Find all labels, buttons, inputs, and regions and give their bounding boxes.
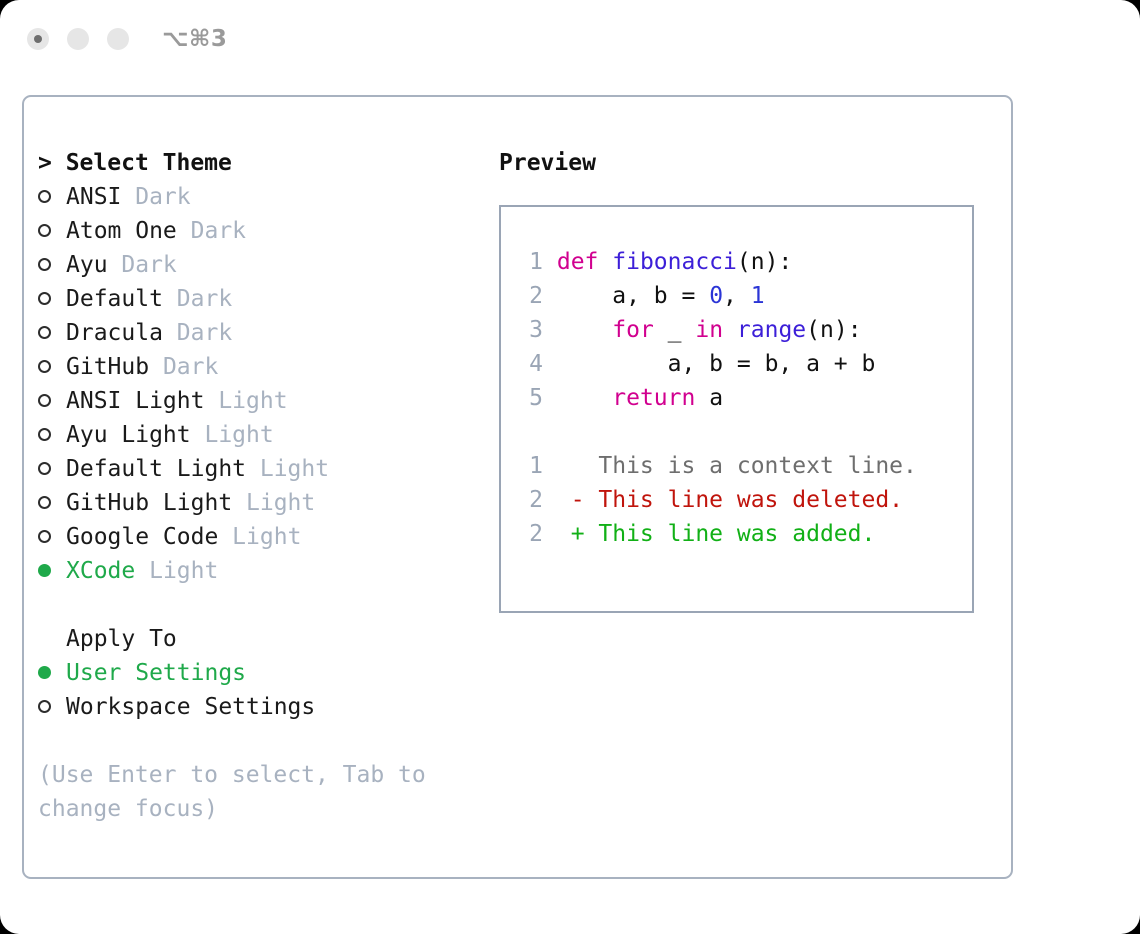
code-token: [557, 317, 612, 343]
radio-unselected-icon[interactable]: [38, 350, 66, 384]
radio-unselected-icon[interactable]: [38, 486, 66, 520]
theme-list-item[interactable]: ANSI Light Light: [38, 384, 468, 418]
theme-list-item[interactable]: Atom One Dark: [38, 214, 468, 248]
theme-name-label: ANSI: [66, 184, 121, 210]
theme-variant-label: Dark: [177, 218, 246, 244]
code-sample-block: 1 def fibonacci(n):2 a, b = 0, 13 for _ …: [519, 245, 972, 415]
code-token: fibonacci: [612, 249, 737, 275]
diff-line-number: 2: [519, 517, 543, 551]
diff-sample-block: 1 This is a context line.2 - This line w…: [519, 449, 972, 551]
code-line-number: 1: [519, 245, 543, 279]
radio-bullet-icon: [38, 258, 51, 271]
theme-name-label: Atom One: [66, 218, 177, 244]
window-dot-inner-icon: [34, 35, 42, 43]
select-theme-header: > Select Theme: [38, 146, 468, 180]
theme-list-item[interactable]: Ayu Dark: [38, 248, 468, 282]
theme-list-item[interactable]: Google Code Light: [38, 520, 468, 554]
radio-unselected-icon[interactable]: [38, 282, 66, 316]
radio-selected-icon[interactable]: [38, 554, 66, 588]
code-line-number: 3: [519, 313, 543, 347]
code-token: a, b = b, a + b: [557, 351, 876, 377]
radio-bullet-icon: [38, 326, 51, 339]
preview-column: Preview 1 def fibonacci(n):2 a, b = 0, 1…: [499, 146, 999, 613]
theme-name-label: Default Light: [66, 456, 246, 482]
diff-marker: -: [543, 487, 598, 513]
code-token: 1: [751, 283, 765, 309]
radio-bullet-icon: [38, 190, 51, 203]
code-token: (n):: [737, 249, 792, 275]
theme-list-item[interactable]: ANSI Dark: [38, 180, 468, 214]
diff-text: This is a context line.: [598, 453, 917, 479]
theme-name-label: GitHub Light: [66, 490, 232, 516]
code-token: a: [695, 385, 723, 411]
radio-unselected-icon[interactable]: [38, 180, 66, 214]
theme-variant-label: Dark: [108, 252, 177, 278]
theme-variant-label: Light: [191, 422, 274, 448]
code-token: for: [612, 317, 654, 343]
diff-line: 2 - This line was deleted.: [519, 483, 972, 517]
radio-bullet-icon: [38, 394, 51, 407]
app-window: ⌥⌘3 > Select Theme ANSI DarkAtom One Dar…: [0, 0, 1140, 934]
diff-text: This line was deleted.: [598, 487, 903, 513]
theme-list-item[interactable]: GitHub Light Light: [38, 486, 468, 520]
select-theme-prompt-prefix: >: [38, 150, 66, 176]
code-token: def: [557, 249, 612, 275]
theme-list-item[interactable]: Dracula Dark: [38, 316, 468, 350]
theme-list-item[interactable]: XCode Light: [38, 554, 468, 588]
theme-variant-label: Dark: [121, 184, 190, 210]
theme-list: ANSI DarkAtom One DarkAyu DarkDefault Da…: [38, 180, 468, 588]
apply-to-list: User SettingsWorkspace Settings: [38, 656, 468, 724]
radio-unselected-icon[interactable]: [38, 316, 66, 350]
radio-unselected-icon[interactable]: [38, 214, 66, 248]
radio-bullet-icon: [38, 428, 51, 441]
theme-name-label: Google Code: [66, 524, 218, 550]
theme-variant-label: Dark: [163, 286, 232, 312]
theme-variant-label: Dark: [149, 354, 218, 380]
code-line: 5 return a: [519, 381, 972, 415]
radio-bullet-icon: [38, 360, 51, 373]
radio-unselected-icon[interactable]: [38, 418, 66, 452]
diff-line-number: 1: [519, 449, 543, 483]
theme-variant-label: Light: [232, 490, 315, 516]
code-token: [723, 317, 737, 343]
theme-picker-panel: > Select Theme ANSI DarkAtom One DarkAyu…: [22, 95, 1013, 879]
code-token: range: [737, 317, 806, 343]
code-line: 3 for _ in range(n):: [519, 313, 972, 347]
diff-line: 1 This is a context line.: [519, 449, 972, 483]
theme-name-label: ANSI Light: [66, 388, 204, 414]
code-token: _: [654, 317, 696, 343]
code-token: ,: [723, 283, 751, 309]
theme-variant-label: Dark: [163, 320, 232, 346]
code-line: 2 a, b = 0, 1: [519, 279, 972, 313]
code-line-number: 4: [519, 347, 543, 381]
radio-bullet-icon: [38, 292, 51, 305]
apply-to-label: Workspace Settings: [66, 694, 315, 720]
preview-title: Preview: [499, 146, 999, 180]
code-token: (n):: [806, 317, 861, 343]
window-dot-3-icon[interactable]: [107, 28, 129, 50]
window-titlebar: ⌥⌘3: [0, 0, 1140, 78]
theme-variant-label: Light: [246, 456, 329, 482]
theme-variant-label: Light: [135, 558, 218, 584]
radio-bullet-icon: [38, 700, 51, 713]
code-line-number: 5: [519, 381, 543, 415]
diff-marker: +: [543, 521, 598, 547]
theme-variant-label: Light: [204, 388, 287, 414]
radio-unselected-icon[interactable]: [38, 384, 66, 418]
code-token: return: [612, 385, 695, 411]
code-token: in: [695, 317, 723, 343]
theme-name-label: Dracula: [66, 320, 163, 346]
code-token: [557, 385, 612, 411]
diff-line-number: 2: [519, 483, 543, 517]
theme-name-label: Default: [66, 286, 163, 312]
keyboard-shortcut-label: ⌥⌘3: [162, 26, 227, 52]
diff-marker: [543, 453, 598, 479]
theme-variant-label: Light: [218, 524, 301, 550]
theme-list-item[interactable]: GitHub Dark: [38, 350, 468, 384]
theme-list-item[interactable]: Default Light Light: [38, 452, 468, 486]
theme-name-label: GitHub: [66, 354, 149, 380]
radio-selected-icon[interactable]: [38, 656, 66, 690]
select-theme-header-label: Select Theme: [66, 150, 232, 176]
apply-to-label: User Settings: [66, 660, 246, 686]
code-token: 0: [709, 283, 723, 309]
radio-bullet-icon: [38, 496, 51, 509]
diff-text: This line was added.: [598, 521, 875, 547]
theme-list-item[interactable]: Default Dark: [38, 282, 468, 316]
window-dot-2-icon[interactable]: [67, 28, 89, 50]
radio-unselected-icon[interactable]: [38, 690, 66, 724]
code-diff-spacer: [519, 415, 972, 449]
window-controls: [27, 28, 129, 50]
window-dot-active-icon[interactable]: [27, 28, 49, 50]
apply-to-header-indent: [38, 622, 66, 656]
radio-bullet-icon: [38, 462, 51, 475]
code-token: a, b =: [557, 283, 709, 309]
theme-name-label: Ayu Light: [66, 422, 191, 448]
apply-to-list-item[interactable]: User Settings: [38, 656, 468, 690]
diff-line: 2 + This line was added.: [519, 517, 972, 551]
theme-name-label: XCode: [66, 558, 135, 584]
theme-name-label: Ayu: [66, 252, 108, 278]
theme-selection-column: > Select Theme ANSI DarkAtom One DarkAyu…: [38, 146, 468, 826]
radio-bullet-icon: [38, 666, 51, 679]
apply-to-header-label: Apply To: [66, 626, 177, 652]
code-line-number: 2: [519, 279, 543, 313]
radio-unselected-icon[interactable]: [38, 452, 66, 486]
code-line: 4 a, b = b, a + b: [519, 347, 972, 381]
apply-to-section: Apply To User SettingsWorkspace Settings: [38, 622, 468, 724]
apply-to-header: Apply To: [38, 622, 468, 656]
radio-unselected-icon[interactable]: [38, 520, 66, 554]
code-line: 1 def fibonacci(n):: [519, 245, 972, 279]
keyboard-hint-text: (Use Enter to select, Tab to change focu…: [38, 758, 448, 826]
radio-bullet-icon: [38, 530, 51, 543]
apply-to-list-item[interactable]: Workspace Settings: [38, 690, 468, 724]
radio-bullet-icon: [38, 564, 51, 577]
radio-bullet-icon: [38, 224, 51, 237]
theme-list-item[interactable]: Ayu Light Light: [38, 418, 468, 452]
preview-box: 1 def fibonacci(n):2 a, b = 0, 13 for _ …: [499, 205, 974, 613]
radio-unselected-icon[interactable]: [38, 248, 66, 282]
